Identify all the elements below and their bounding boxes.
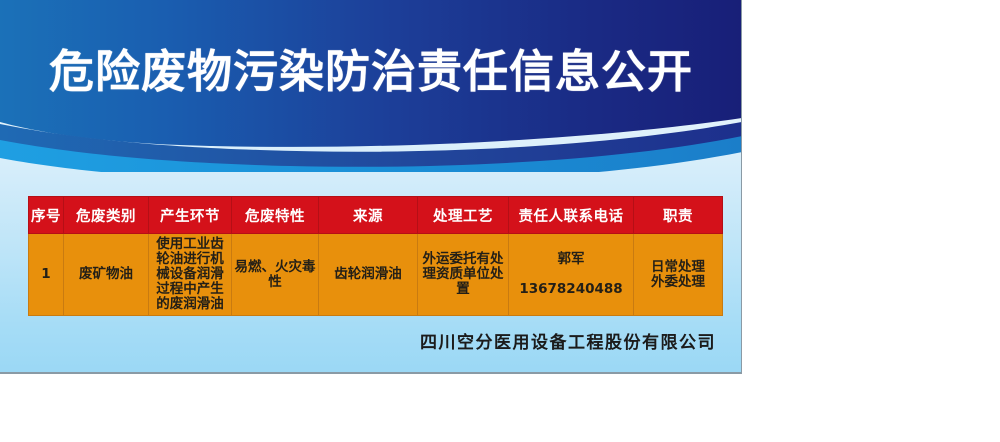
column-header-stage: 产生环节 bbox=[149, 197, 232, 234]
banner-header: 危险废物污染防治责任信息公开 bbox=[0, 0, 742, 172]
poster-board: 危险废物污染防治责任信息公开 序号 危废类别 产生环节 危废特性 来源 处理工艺… bbox=[0, 0, 742, 374]
cell-property: 易燃、火灾毒性 bbox=[232, 234, 319, 316]
contact-name: 郭军 bbox=[511, 252, 631, 267]
column-header-category: 危废类别 bbox=[64, 197, 149, 234]
column-header-process: 处理工艺 bbox=[418, 197, 509, 234]
table-body: 1 废矿物油 使用工业齿轮油进行机械设备润滑过程中产生的废润滑油 易燃、火灾毒性… bbox=[29, 234, 723, 316]
cell-no: 1 bbox=[29, 234, 64, 316]
column-header-property: 危废特性 bbox=[232, 197, 319, 234]
table-header-row: 序号 危废类别 产生环节 危废特性 来源 处理工艺 责任人联系电话 职责 bbox=[29, 197, 723, 234]
table-header: 序号 危废类别 产生环节 危废特性 来源 处理工艺 责任人联系电话 职责 bbox=[29, 197, 723, 234]
column-header-contact: 责任人联系电话 bbox=[509, 197, 634, 234]
column-header-no: 序号 bbox=[29, 197, 64, 234]
cell-stage: 使用工业齿轮油进行机械设备润滑过程中产生的废润滑油 bbox=[149, 234, 232, 316]
contact-phone: 13678240488 bbox=[511, 282, 631, 297]
cell-contact: 郭军 13678240488 bbox=[509, 234, 634, 316]
cell-process: 外运委托有处理资质单位处置 bbox=[418, 234, 509, 316]
cell-duty: 日常处理 外委处理 bbox=[634, 234, 723, 316]
cell-category: 废矿物油 bbox=[64, 234, 149, 316]
column-header-duty: 职责 bbox=[634, 197, 723, 234]
page-title: 危险废物污染防治责任信息公开 bbox=[0, 44, 742, 100]
cell-source: 齿轮润滑油 bbox=[319, 234, 418, 316]
column-header-source: 来源 bbox=[319, 197, 418, 234]
company-name: 四川空分医用设备工程股份有限公司 bbox=[0, 328, 716, 353]
hazardous-waste-table: 序号 危废类别 产生环节 危废特性 来源 处理工艺 责任人联系电话 职责 1 废… bbox=[28, 196, 723, 316]
table-row: 1 废矿物油 使用工业齿轮油进行机械设备润滑过程中产生的废润滑油 易燃、火灾毒性… bbox=[29, 234, 723, 316]
